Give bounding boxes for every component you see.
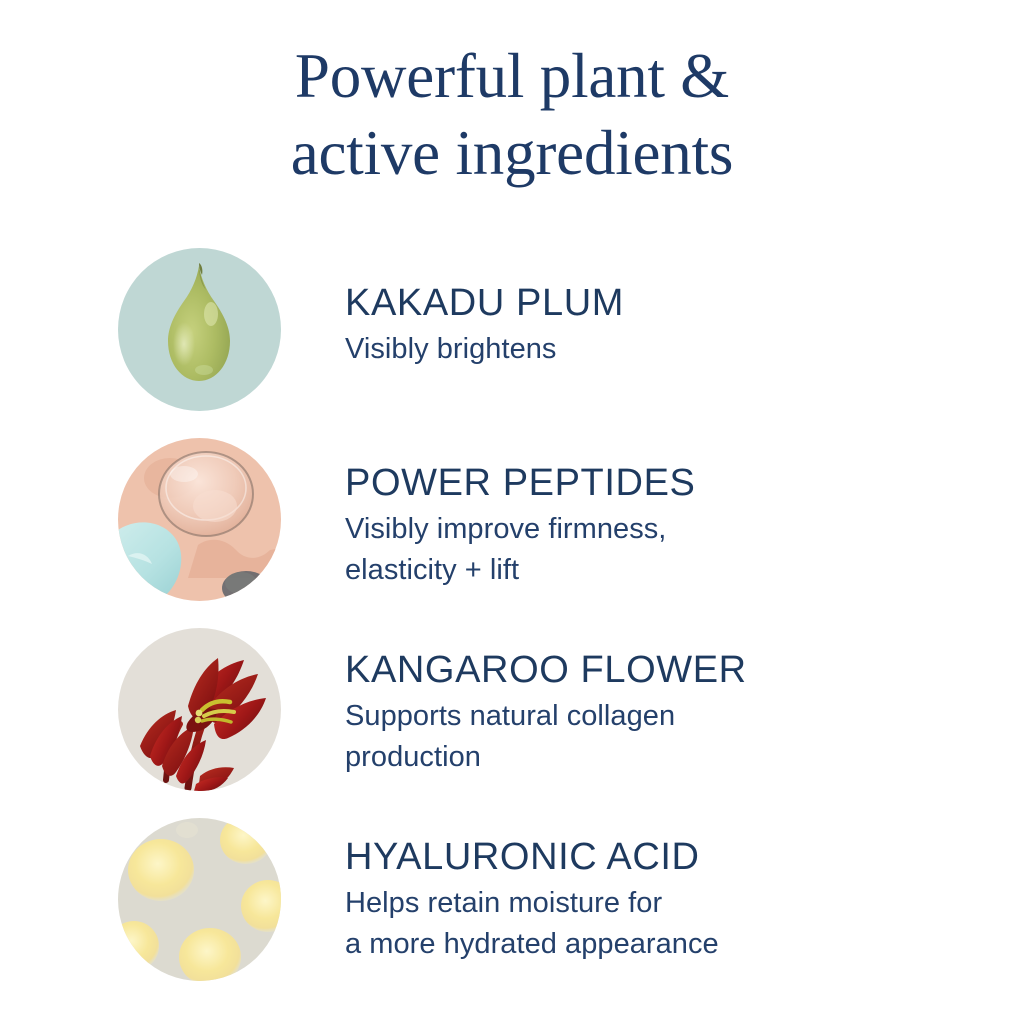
ingredient-name: KANGAROO FLOWER — [345, 648, 985, 693]
ingredient-description-line-1: Helps retain moisture for — [345, 883, 985, 924]
ingredient-description-line-1: Visibly brightens — [345, 329, 985, 370]
ingredient-text-kakadu-plum: KAKADU PLUM Visibly brightens — [345, 281, 985, 370]
ingredient-name: HYALURONIC ACID — [345, 835, 985, 880]
ingredient-description-line-1: Supports natural collagen — [345, 696, 985, 737]
ingredient-description: Helps retain moisture for a more hydrate… — [345, 883, 985, 965]
page-title: Powerful plant & active ingredients — [0, 38, 1024, 192]
ingredient-description-line-2: elasticity + lift — [345, 550, 985, 591]
ingredient-list: KAKADU PLUM Visibly brightens — [0, 243, 1024, 1003]
ingredient-item-kangaroo-flower: KANGAROO FLOWER Supports natural collage… — [0, 623, 1024, 813]
ingredient-description: Supports natural collagen production — [345, 696, 985, 778]
ingredient-description-line-1: Visibly improve firmness, — [345, 509, 985, 550]
ingredient-name: KAKADU PLUM — [345, 281, 985, 326]
ingredient-text-power-peptides: POWER PEPTIDES Visibly improve firmness,… — [345, 461, 985, 591]
peptide-gel-drop-icon — [118, 438, 281, 601]
hyaluronic-acid-droplets-icon — [118, 818, 281, 981]
ingredient-description-line-2: a more hydrated appearance — [345, 924, 985, 965]
ingredient-text-kangaroo-flower: KANGAROO FLOWER Supports natural collage… — [345, 648, 985, 778]
ingredient-text-hyaluronic-acid: HYALURONIC ACID Helps retain moisture fo… — [345, 835, 985, 965]
ingredient-item-kakadu-plum: KAKADU PLUM Visibly brightens — [0, 243, 1024, 433]
ingredient-item-hyaluronic-acid: HYALURONIC ACID Helps retain moisture fo… — [0, 813, 1024, 1003]
page-title-line-2: active ingredients — [0, 115, 1024, 192]
ingredient-name: POWER PEPTIDES — [345, 461, 985, 506]
ingredient-description: Visibly improve firmness, elasticity + l… — [345, 509, 985, 591]
kangaroo-paw-flower-icon — [118, 628, 281, 791]
ingredient-item-power-peptides: POWER PEPTIDES Visibly improve firmness,… — [0, 433, 1024, 623]
ingredient-description: Visibly brightens — [345, 329, 985, 370]
ingredient-description-line-2: production — [345, 737, 985, 778]
kakadu-plum-fruit-icon — [118, 248, 281, 411]
page-title-line-1: Powerful plant & — [0, 38, 1024, 115]
